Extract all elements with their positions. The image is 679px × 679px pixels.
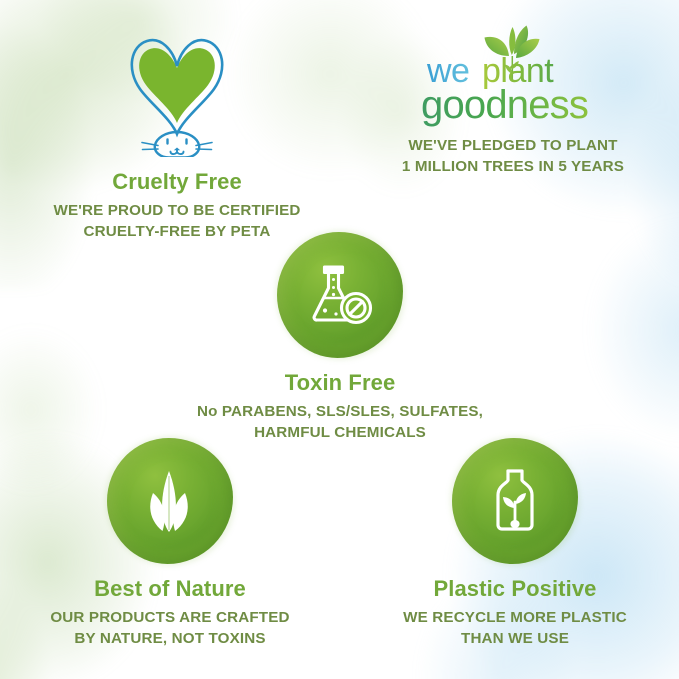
plastic-positive-title: Plastic Positive (360, 576, 670, 602)
logo-word-goodness: goodness (421, 83, 588, 127)
bunny-mouth (171, 150, 184, 154)
we-plant-goodness-description: WE'VE PLEDGED TO PLANT 1 MILLION TREES I… (358, 136, 668, 178)
bottle-sprout-icon (478, 464, 552, 538)
heart-fill (139, 48, 215, 123)
best-of-nature-icon-holder (15, 438, 325, 564)
cruelty-free-icon-holder (22, 22, 332, 157)
panel-best-of-nature: Best of Nature OUR PRODUCTS ARE CRAFTED … (15, 438, 325, 650)
plastic-positive-badge (452, 438, 578, 564)
leaves-icon (133, 464, 207, 538)
sprout-inside-bottle (503, 493, 526, 528)
plastic-positive-icon-holder (360, 438, 670, 564)
we-plant-goodness-logo: we plant goodness (413, 22, 613, 130)
toxin-free-badge (277, 232, 403, 358)
panel-cruelty-free: Cruelty Free WE'RE PROUD TO BE CERTIFIED… (22, 22, 332, 243)
plastic-positive-description: WE RECYCLE MORE PLASTIC THAN WE USE (360, 608, 670, 650)
best-of-nature-badge (107, 438, 233, 564)
panel-toxin-free: Toxin Free No PARABENS, SLS/SLES, SULFAT… (170, 232, 510, 444)
bunny-heart-icon (102, 22, 252, 157)
best-of-nature-description: OUR PRODUCTS ARE CRAFTED BY NATURE, NOT … (15, 608, 325, 650)
cruelty-free-title: Cruelty Free (22, 169, 332, 195)
best-of-nature-title: Best of Nature (15, 576, 325, 602)
infographic-canvas: Cruelty Free WE'RE PROUD TO BE CERTIFIED… (0, 0, 679, 679)
toxin-free-title: Toxin Free (170, 370, 510, 396)
flask-no-entry-icon (303, 258, 377, 332)
panel-plastic-positive: Plastic Positive WE RECYCLE MORE PLASTIC… (360, 438, 670, 650)
we-plant-goodness-logo-holder: we plant goodness (358, 22, 668, 130)
panel-we-plant-goodness: we plant goodness WE'VE PLEDGED TO PLANT… (358, 22, 668, 178)
toxin-free-icon-holder (170, 232, 510, 358)
